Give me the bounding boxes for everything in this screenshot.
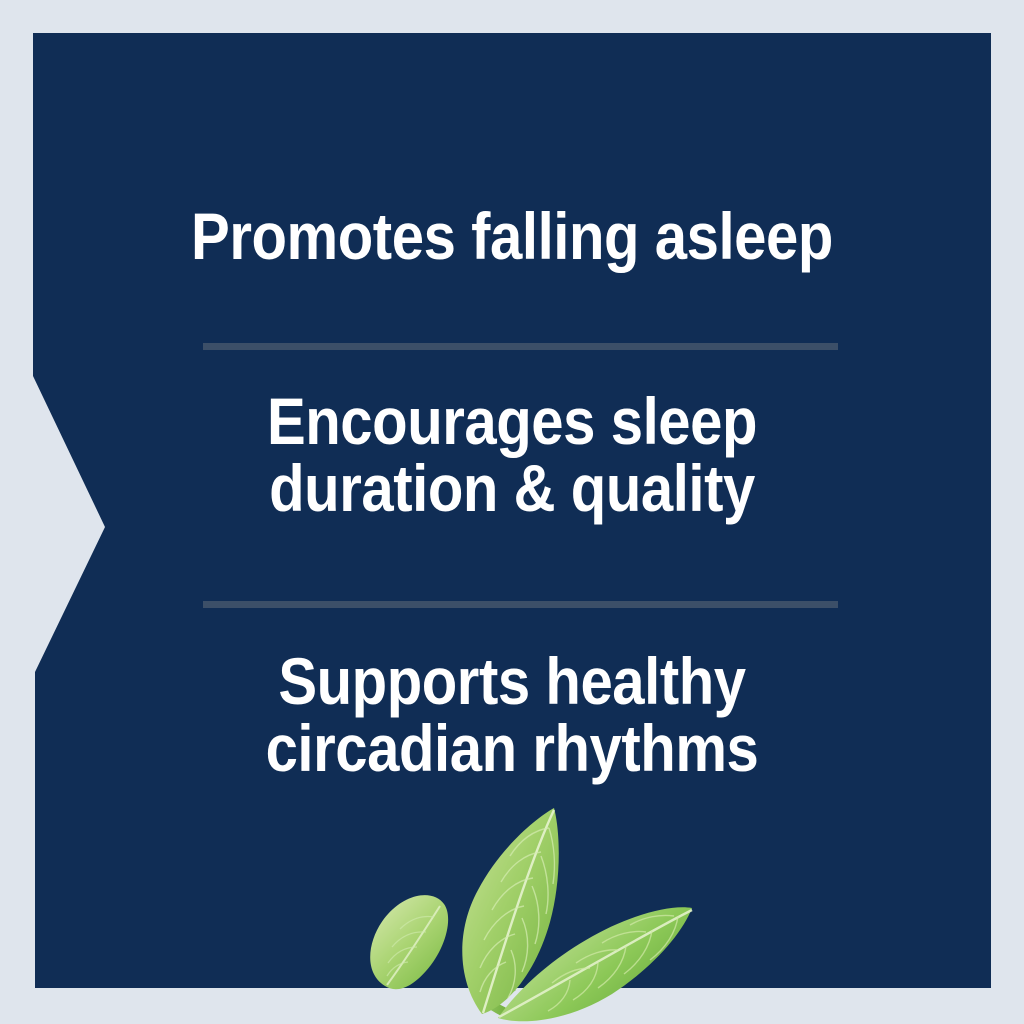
benefit-divider-2: [203, 601, 838, 608]
benefit-divider-1: [203, 343, 838, 350]
promo-card: Promotes falling asleep Encourages sleep…: [0, 0, 1024, 1024]
benefit-item-encourages-sleep-duration-quality: Encourages sleep duration & quality: [90, 388, 933, 523]
benefit-item-promotes-falling-asleep: Promotes falling asleep: [90, 203, 933, 270]
benefit-item-supports-healthy-circadian-rhythms: Supports healthy circadian rhythms: [90, 648, 933, 783]
benefits-list: Promotes falling asleep Encourages sleep…: [33, 33, 991, 988]
